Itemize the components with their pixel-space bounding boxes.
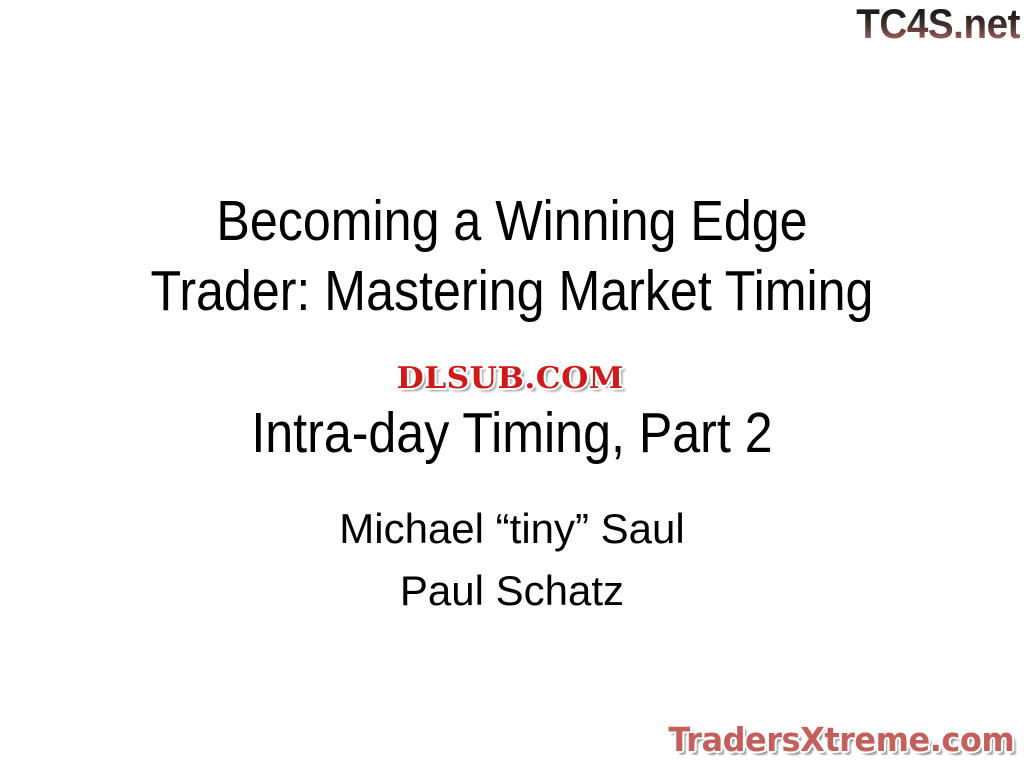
slide-subtitle: Intra-day Timing, Part 2 [61,398,962,468]
presentation-slide: TC4S.net Becoming a Winning Edge Trader:… [0,0,1024,768]
dlsub-watermark: DLSUB.COM [364,358,656,400]
tc4s-logo-icon: TC4S.net [856,2,1020,46]
tradersxtreme-logo-icon: TradersXtreme.com [669,722,1015,758]
author-name-1: Michael “tiny” Saul [0,498,1024,560]
dlsub-logo-icon: DLSUB.COM [396,363,623,395]
slide-title: Becoming a Winning Edge Trader: Masterin… [0,186,1024,326]
author-list: Michael “tiny” Saul Paul Schatz [0,498,1024,622]
title-line-2: Trader: Mastering Market Timing [61,256,962,326]
title-line-1: Becoming a Winning Edge [61,186,962,256]
author-name-2: Paul Schatz [0,560,1024,622]
tradersxtreme-watermark: TradersXtreme.com [663,722,1020,758]
